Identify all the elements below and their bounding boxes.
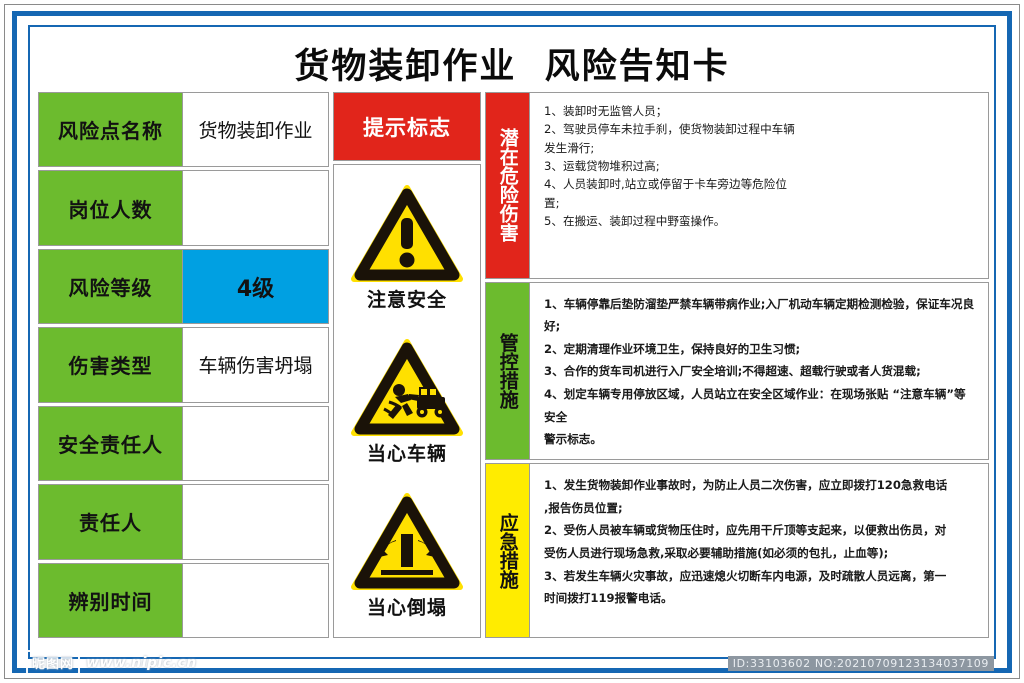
sign-column-header: 提示标志 <box>333 92 481 161</box>
content-grid: 风险点名称 货物装卸作业 岗位人数 风险等级 4级 伤害类型 车辆伤害坍塌 安全… <box>38 92 989 638</box>
sign-list: 注意安全 <box>333 164 481 638</box>
table-row: 责任人 <box>38 484 329 559</box>
table-row: 安全责任人 <box>38 406 329 481</box>
section-text-control-measures: 1、车辆停靠后垫防溜垫严禁车辆带病作业;入厂机动车辆定期检测检验，保证车况良好;… <box>544 293 976 451</box>
table-row: 风险等级 4级 <box>38 249 329 324</box>
section-control-measures: 管控措施 1、车辆停靠后垫防溜垫严禁车辆带病作业;入厂机动车辆定期检测检验，保证… <box>485 282 989 461</box>
info-table: 风险点名称 货物装卸作业 岗位人数 风险等级 4级 伤害类型 车辆伤害坍塌 安全… <box>38 92 329 638</box>
info-label-safety-officer: 安全责任人 <box>38 406 183 481</box>
poster-root: 货物装卸作业 风险告知卡 风险点名称 货物装卸作业 岗位人数 风险等级 4级 伤 <box>0 0 1024 683</box>
watermark-url: www.nipic.cn <box>86 655 197 671</box>
info-value-injury-type: 车辆伤害坍塌 <box>183 327 329 402</box>
info-value-risk-point-name: 货物装卸作业 <box>183 92 329 167</box>
table-row: 辨别时间 <box>38 563 329 638</box>
poster-sheet: 货物装卸作业 风险告知卡 风险点名称 货物装卸作业 岗位人数 风险等级 4级 伤 <box>33 30 991 641</box>
section-body-potential-hazard: 1、装卸时无监管人员； 2、驾驶员停车未拉手刹，使货物装卸过程中车辆 发生滑行;… <box>530 92 989 279</box>
watermark-id: ID:33103602 NO:20210709123134037109 <box>728 656 994 671</box>
sign-item-collapse-warning: 当心倒塌 <box>351 493 463 620</box>
section-text-potential-hazard: 1、装卸时无监管人员； 2、驾驶员停车未拉手刹，使货物装卸过程中车辆 发生滑行;… <box>544 102 976 230</box>
info-value-safety-officer <box>183 406 329 481</box>
info-value-identify-time <box>183 563 329 638</box>
section-body-emergency-measures: 1、发生货物装卸作业事故时，为防止人员二次伤害，应立即拨打120急救电话 ,报告… <box>530 463 989 638</box>
sign-caption-general-warning: 注意安全 <box>367 285 447 312</box>
section-text-emergency-measures: 1、发生货物装卸作业事故时，为防止人员二次伤害，应立即拨打120急救电话 ,报告… <box>544 474 976 610</box>
section-label-control-measures: 管控措施 <box>485 282 530 461</box>
table-row: 风险点名称 货物装卸作业 <box>38 92 329 167</box>
warning-vehicle-icon <box>351 339 463 437</box>
sign-caption-vehicle-warning: 当心车辆 <box>367 439 447 466</box>
table-row: 伤害类型 车辆伤害坍塌 <box>38 327 329 402</box>
table-row: 岗位人数 <box>38 170 329 245</box>
sign-item-vehicle-warning: 当心车辆 <box>351 339 463 466</box>
sign-column: 提示标志 注意安全 <box>333 92 481 638</box>
page-title: 货物装卸作业 风险告知卡 <box>33 38 991 89</box>
info-value-staff-count <box>183 170 329 245</box>
warning-collapse-icon <box>351 493 463 591</box>
info-label-staff-count: 岗位人数 <box>38 170 183 245</box>
info-value-risk-level: 4级 <box>183 249 329 324</box>
section-label-potential-hazard: 潜在危险伤害 <box>485 92 530 279</box>
warning-exclamation-icon <box>351 185 463 283</box>
info-label-identify-time: 辨别时间 <box>38 563 183 638</box>
section-body-control-measures: 1、车辆停靠后垫防溜垫严禁车辆带病作业;入厂机动车辆定期检测检验，保证车况良好;… <box>530 282 989 461</box>
sections-column: 潜在危险伤害 1、装卸时无监管人员； 2、驾驶员停车未拉手刹，使货物装卸过程中车… <box>485 92 989 638</box>
info-label-responsible-person: 责任人 <box>38 484 183 559</box>
section-label-emergency-measures: 应急措施 <box>485 463 530 638</box>
info-value-responsible-person <box>183 484 329 559</box>
nipic-logo: 昵图网 <box>26 650 80 675</box>
watermark-left: 昵图网 www.nipic.cn <box>26 650 197 675</box>
sign-caption-collapse-warning: 当心倒塌 <box>367 593 447 620</box>
section-emergency-measures: 应急措施 1、发生货物装卸作业事故时，为防止人员二次伤害，应立即拨打120急救电… <box>485 463 989 638</box>
section-potential-hazard: 潜在危险伤害 1、装卸时无监管人员； 2、驾驶员停车未拉手刹，使货物装卸过程中车… <box>485 92 989 279</box>
sign-item-general-warning: 注意安全 <box>351 185 463 312</box>
info-label-risk-level: 风险等级 <box>38 249 183 324</box>
info-label-injury-type: 伤害类型 <box>38 327 183 402</box>
info-label-risk-point-name: 风险点名称 <box>38 92 183 167</box>
